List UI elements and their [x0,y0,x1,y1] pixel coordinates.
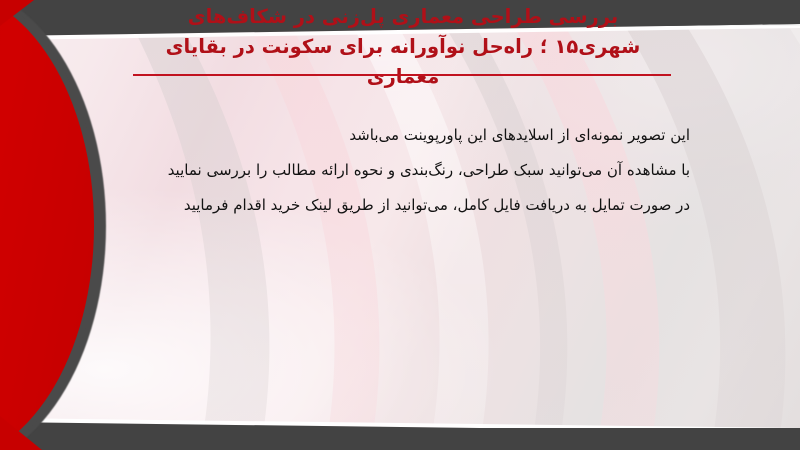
bottom-rail [0,428,800,450]
slide-title-line-1: بررسی طراحی معماری پل‌زنی در شکاف‌های [120,2,686,32]
slide-title: بررسی طراحی معماری پل‌زنی در شکاف‌های شه… [120,2,686,92]
title-underline-rule [133,74,671,76]
slide-body-text: این تصویر نمونه‌ای از اسلایدهای این پاور… [110,118,690,223]
slide-title-line-3: معماری [120,62,686,92]
red-lens-shape [0,0,100,450]
slide-body-line-2: با مشاهده آن می‌توانید سبک طراحی، رنگ‌بن… [110,153,690,188]
slide-body-line-3: در صورت تمایل به دریافت فایل کامل، می‌تو… [110,188,690,223]
presentation-slide: بررسی طراحی معماری پل‌زنی در شکاف‌های شه… [0,0,800,450]
slide-title-line-2: شهری۱۵ ؛ راه‌حل نوآورانه برای سکونت در ب… [120,32,686,62]
slide-body-line-1: این تصویر نمونه‌ای از اسلایدهای این پاور… [110,118,690,153]
red-lens-decoration [0,0,100,450]
